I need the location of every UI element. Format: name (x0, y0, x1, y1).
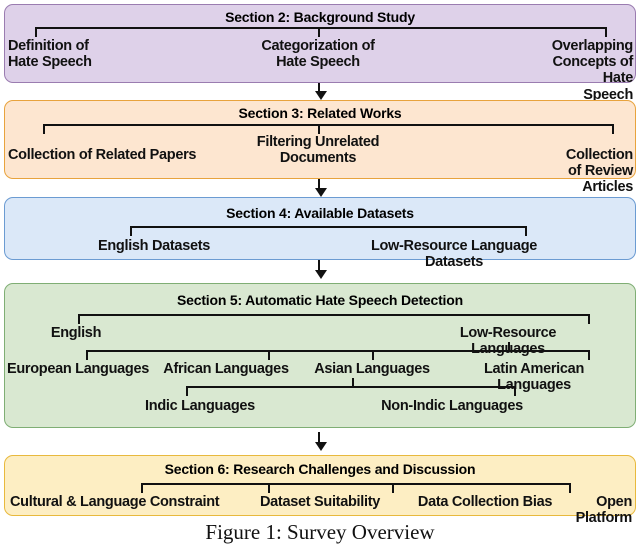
node-english: English (51, 325, 101, 341)
node-indic-languages: Indic Languages (145, 398, 255, 414)
section-3-bracket-stub-right (612, 124, 614, 134)
figure-caption: Figure 1: Survey Overview (0, 520, 640, 545)
section-6-bracket-horizontal (141, 483, 570, 485)
arrow-section3-to-section4 (318, 179, 320, 189)
node-african-languages: African Languages (163, 361, 288, 377)
node-categorization-of-hate-speech: Categorization of Hate Speech (261, 38, 374, 70)
node-low-resource-language-datasets: Low-Resource Language Datasets (361, 238, 547, 270)
section-4-bracket-horizontal (130, 226, 526, 228)
section-5-bracket1-stub-left (78, 314, 80, 324)
section-5-bracket2-stub-african (268, 350, 270, 360)
section-2-bracket-horizontal (35, 27, 606, 29)
node-english-datasets: English Datasets (98, 238, 210, 254)
section-5-bracket1-horizontal (78, 314, 590, 316)
section-4-bracket-stub-right (525, 226, 527, 236)
section-5-bracket2-stub-latin-american (588, 350, 590, 360)
section-4-bracket-stub-left (130, 226, 132, 236)
section-5-bracket2-horizontal (86, 350, 590, 352)
node-overlapping-concepts-of-hate-speech: Overlapping Concepts of Hate Speech (552, 38, 633, 103)
section-5-bracket3-drop-from-parent (352, 378, 354, 386)
section-6-bracket-stub-cultural (141, 483, 143, 493)
section-5-title: Section 5: Automatic Hate Speech Detecti… (0, 292, 640, 308)
arrow-section2-to-section3 (318, 83, 320, 92)
arrow-section4-to-section5 (318, 260, 320, 271)
section-2-bracket-stub-right (605, 27, 607, 37)
node-latin-american-languages: Latin American Languages (481, 361, 587, 393)
node-data-collection-bias: Data Collection Bias (418, 494, 552, 510)
section-2-title: Section 2: Background Study (0, 9, 640, 25)
section-5-bracket3-stub-left (186, 386, 188, 396)
section-3-bracket-stub-left (43, 124, 45, 134)
section-5-bracket3-horizontal (186, 386, 516, 388)
section-5-bracket1-stub-right (588, 314, 590, 324)
node-non-indic-languages: Non-Indic Languages (381, 398, 523, 414)
node-dataset-suitability: Dataset Suitability (260, 494, 380, 510)
node-filtering-unrelated-documents: Filtering Unrelated Documents (257, 134, 379, 166)
section-5-bracket3-stub-right (514, 386, 516, 396)
section-5-bracket2-stub-asian (372, 350, 374, 360)
node-collection-of-related-papers: Collection of Related Papers (8, 147, 196, 163)
section-2-bracket-stub-center (318, 27, 320, 37)
node-collection-of-review-articles: Collection of Review Articles (566, 147, 633, 196)
node-asian-languages: Asian Languages (314, 361, 430, 377)
section-2-bracket-stub-left (35, 27, 37, 37)
node-cultural-and-language-constraint: Cultural & Language Constraint (10, 494, 219, 510)
node-european-languages: European Languages (7, 361, 149, 377)
node-definition-of-hate-speech: Definition of Hate Speech (8, 38, 92, 70)
section-3-bracket-stub-center (318, 124, 320, 134)
section-5-bracket2-stub-european (86, 350, 88, 360)
section-5-bracket2-drop-from-parent (508, 342, 510, 350)
section-3-title: Section 3: Related Works (0, 105, 640, 121)
section-4-title: Section 4: Available Datasets (0, 205, 640, 221)
section-6-bracket-stub-dataset (268, 483, 270, 493)
section-3-bracket-horizontal (43, 124, 613, 126)
section-6-bracket-stub-bias (392, 483, 394, 493)
arrow-section5-to-section6 (318, 432, 320, 443)
survey-overview-diagram: Section 2: Background Study Definition o… (0, 0, 640, 549)
section-6-bracket-stub-open-platform (569, 483, 571, 493)
section-6-title: Section 6: Research Challenges and Discu… (0, 461, 640, 477)
